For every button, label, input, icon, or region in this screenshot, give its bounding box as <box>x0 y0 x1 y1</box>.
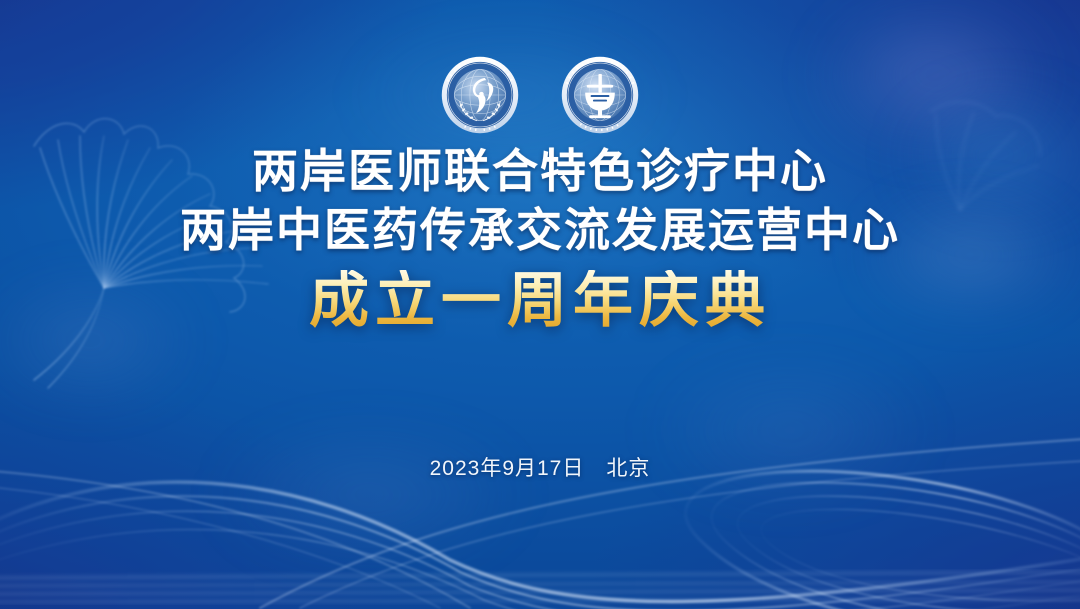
date-location-line: 2023年9月17日 北京 <box>0 452 1080 482</box>
headline-anniversary: 成立一周年庆典 <box>180 270 900 331</box>
title-block: 两岸医师联合特色诊疗中心 两岸中医药传承交流发展运营中心 成立一周年庆典 <box>180 148 900 331</box>
emblem-tcm-heritage-center-icon <box>561 56 639 134</box>
logo-row <box>441 56 639 134</box>
event-poster: 两岸医师联合特色诊疗中心 两岸中医药传承交流发展运营中心 成立一周年庆典 202… <box>0 0 1080 609</box>
poster-content: 两岸医师联合特色诊疗中心 两岸中医药传承交流发展运营中心 成立一周年庆典 <box>0 0 1080 609</box>
title-line-2: 两岸中医药传承交流发展运营中心 <box>180 207 900 254</box>
emblem-cross-strait-medical-association-icon <box>441 56 519 134</box>
title-line-1: 两岸医师联合特色诊疗中心 <box>180 148 900 195</box>
